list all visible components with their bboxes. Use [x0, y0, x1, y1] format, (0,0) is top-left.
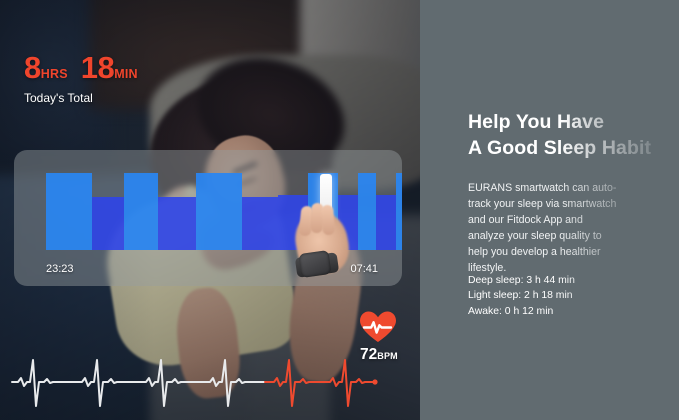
sleep-stats-list: Deep sleep: 3 h 44 min Light sleep: 2 h …	[468, 273, 658, 319]
sleep-stage-bar	[376, 195, 396, 250]
heading-line-2: A Good Sleep Habit	[468, 136, 678, 162]
smartwatch-face[interactable]	[298, 250, 331, 278]
page-title: Help You Have A Good Sleep Habit	[468, 110, 678, 161]
sleep-stage-bar	[196, 173, 242, 250]
sleep-stage-bar	[158, 197, 196, 250]
stat-light-sleep: Light sleep: 2 h 18 min	[468, 288, 658, 303]
heading-line-1: Help You Have	[468, 111, 604, 133]
sleep-stage-bar	[396, 173, 402, 250]
sleep-stage-bar	[242, 197, 278, 250]
total-minutes-unit: MIN	[114, 67, 138, 81]
total-hours: 8	[24, 50, 41, 85]
description-text: EURANS smartwatch can auto-track your sl…	[468, 180, 618, 277]
total-minutes: 18	[81, 50, 114, 85]
sleep-stage-bar	[358, 173, 376, 250]
stat-awake: Awake: 0 h 12 min	[468, 304, 658, 319]
info-panel: Help You Have A Good Sleep Habit EURANS …	[420, 0, 679, 420]
person-finger	[321, 205, 335, 236]
sleep-start-time: 23:23	[46, 263, 74, 275]
sleep-end-time: 07:41	[350, 263, 378, 275]
sleep-stage-bar	[124, 173, 158, 250]
sleep-stage-bar	[92, 197, 124, 250]
sleep-chart-card[interactable]: 23:23 07:41	[14, 150, 402, 286]
stat-deep-sleep: Deep sleep: 3 h 44 min	[468, 273, 658, 288]
total-sleep-label: Today's Total	[24, 91, 93, 105]
banner-stage: Help You Have A Good Sleep Habit EURANS …	[0, 0, 679, 420]
ecg-waveform	[0, 348, 440, 420]
sleep-stage-bar	[46, 173, 92, 250]
total-sleep-value: 8HRS18MIN	[24, 50, 138, 86]
total-hours-unit: HRS	[41, 67, 68, 81]
heart-pulse-icon	[358, 310, 398, 344]
